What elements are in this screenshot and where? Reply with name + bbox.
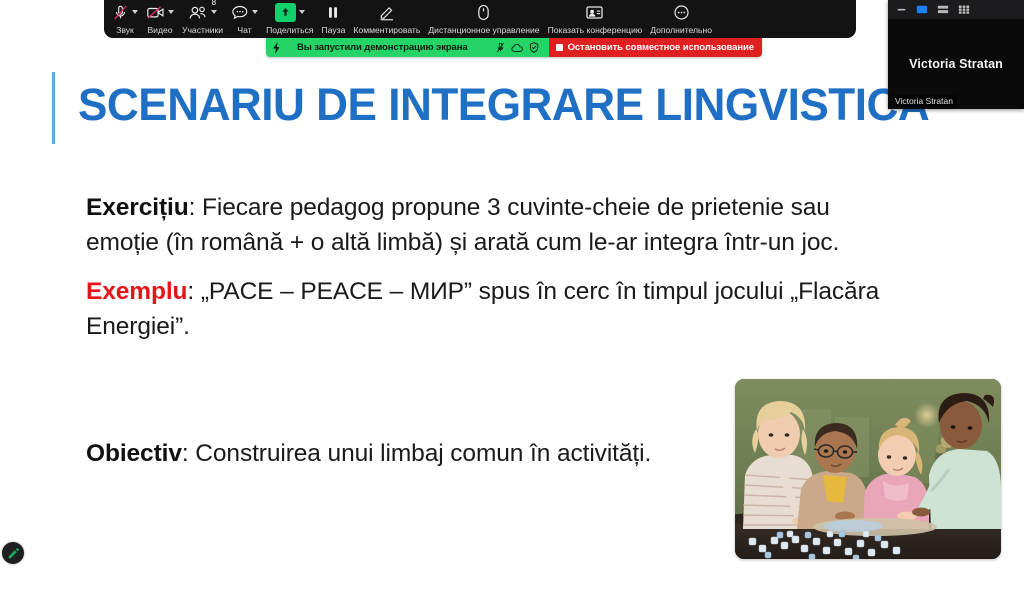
toolbar-label-video: Видео	[147, 25, 172, 35]
paragraph-separator-objective: :	[182, 440, 195, 467]
participants-icon[interactable]: 8	[188, 4, 208, 21]
audio-caret-icon[interactable]	[132, 10, 138, 14]
paragraph-separator-exercise: :	[189, 194, 202, 221]
slide-photo-children-puzzle	[735, 379, 1001, 559]
screen-share-bolt-icon	[272, 42, 281, 54]
screen-root: SCENARIU DE INTEGRARE LINGVISTICĂ Exerci…	[0, 0, 1024, 596]
stop-square-icon	[556, 44, 563, 51]
paragraph-lead-example: Exemplu	[86, 278, 187, 305]
toolbar-label-remote-control: Дистанционное управление	[428, 25, 539, 35]
toolbar-label-share: Поделиться	[266, 25, 313, 35]
participant-name: Victoria Stratan	[909, 57, 1003, 71]
microphone-muted-icon[interactable]	[112, 4, 129, 21]
participant-name-overlay: Victoria Stratan	[891, 95, 957, 107]
paragraph-text-example: „PACE – PEACE – МИР” spus în cerc în tim…	[86, 278, 879, 340]
paragraph-objective: Obiectiv: Construirea unui limbaj comun …	[86, 437, 806, 471]
toolbar-item-annotate[interactable]: Комментировать	[349, 2, 424, 38]
video-panel-controls	[888, 0, 1024, 19]
stop-share-label: Остановить совместное использование	[568, 42, 754, 53]
paragraph-lead-objective: Obiectiv	[86, 440, 182, 467]
minimize-button[interactable]	[896, 4, 907, 15]
annotation-pen-button[interactable]	[2, 542, 24, 564]
toolbar-label-audio: Звук	[116, 25, 134, 35]
paragraph-example: Exemplu: „PACE – PEACE – МИР” spus în ce…	[86, 274, 886, 344]
pause-icon[interactable]	[325, 4, 341, 21]
photo-illustration	[735, 379, 1001, 559]
title-accent-bar	[52, 72, 55, 144]
toolbar-label-show-meeting: Показать конференцию	[548, 25, 643, 35]
paragraph-lead-exercise: Exercițiu	[86, 194, 189, 221]
more-ellipsis-icon[interactable]	[673, 4, 690, 21]
share-status-text: Вы запустили демонстрацию экрана	[287, 42, 490, 53]
gallery-view-button[interactable]	[958, 4, 970, 15]
list-view-button[interactable]	[937, 4, 949, 15]
remote-control-mouse-icon[interactable]	[476, 4, 491, 21]
toolbar-item-video[interactable]: Видео	[142, 2, 178, 38]
shield-icon[interactable]	[529, 42, 539, 53]
video-muted-icon[interactable]	[146, 4, 165, 21]
paragraph-text-objective: Construirea unui limbaj comun în activit…	[195, 440, 651, 467]
chat-caret-icon[interactable]	[252, 10, 258, 14]
toolbar-item-audio[interactable]: Звук	[108, 2, 142, 38]
participants-count-badge: 8	[212, 0, 216, 7]
toolbar-item-share[interactable]: Поделиться	[262, 2, 317, 38]
toolbar-item-participants[interactable]: 8 Участники	[178, 2, 227, 38]
participant-video-panel: Victoria Stratan Victoria Stratan	[888, 0, 1024, 109]
stop-share-button[interactable]: Остановить совместное использование	[549, 38, 762, 57]
participant-video-tile[interactable]: Victoria Stratan Victoria Stratan	[888, 19, 1024, 109]
slide-body: Exercițiu: Fiecare pedagog propune 3 cuv…	[86, 190, 886, 358]
paragraph-exercise: Exercițiu: Fiecare pedagog propune 3 cuv…	[86, 190, 886, 260]
annotate-pen-icon[interactable]	[378, 4, 396, 21]
toolbar-label-pause: Пауза	[322, 25, 346, 35]
presentation-slide: SCENARIU DE INTEGRARE LINGVISTICĂ Exerci…	[0, 0, 1024, 596]
pen-icon	[7, 547, 20, 560]
speaker-view-button[interactable]	[916, 4, 928, 15]
slide-title: SCENARIU DE INTEGRARE LINGVISTICĂ	[78, 76, 862, 134]
microphone-muted-icon[interactable]	[496, 42, 505, 53]
cloud-icon[interactable]	[511, 43, 523, 53]
toolbar-label-more: Дополнительно	[650, 25, 712, 35]
share-status-segment: Вы запустили демонстрацию экрана	[266, 38, 549, 57]
paragraph-separator-example: :	[187, 278, 200, 305]
toolbar-item-remote-control[interactable]: Дистанционное управление	[424, 2, 543, 38]
share-screen-icon[interactable]	[275, 3, 296, 22]
toolbar-label-chat: Чат	[237, 25, 251, 35]
toolbar-item-chat[interactable]: Чат	[227, 2, 262, 38]
show-meeting-icon[interactable]	[585, 4, 604, 21]
toolbar-item-pause[interactable]: Пауза	[318, 2, 350, 38]
toolbar-item-show-meeting[interactable]: Показать конференцию	[544, 2, 647, 38]
share-bar-mini-icons	[496, 42, 543, 53]
zoom-meeting-toolbar: Звук Видео	[104, 0, 856, 38]
screen-share-status-bar: Вы запустили демонстрацию экрана	[266, 38, 762, 57]
participants-caret-icon[interactable]	[211, 10, 217, 14]
chat-icon[interactable]	[231, 4, 249, 21]
share-caret-icon[interactable]	[299, 10, 305, 14]
toolbar-label-annotate: Комментировать	[353, 25, 420, 35]
video-caret-icon[interactable]	[168, 10, 174, 14]
toolbar-item-more[interactable]: Дополнительно	[646, 2, 716, 38]
toolbar-label-participants: Участники	[182, 25, 223, 35]
